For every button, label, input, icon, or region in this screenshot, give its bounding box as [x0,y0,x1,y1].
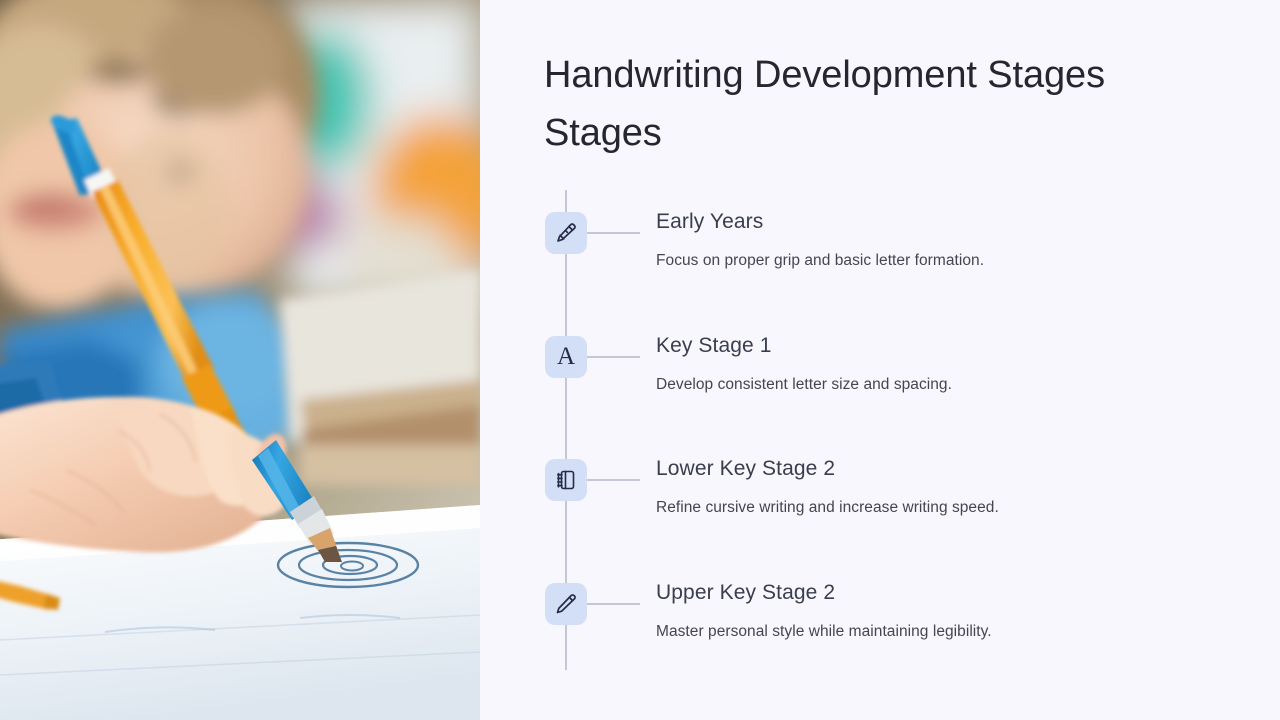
slide-root: Handwriting Development Stages Stages [0,0,1280,720]
timeline-connector-3 [587,603,640,605]
timeline-heading-0: Early Years [656,208,1236,236]
pen-icon [554,592,578,616]
photo-illustration [0,0,480,720]
hero-photo-child-writing [0,0,480,720]
letter-a-icon: A [557,344,575,369]
timeline-item-upper-key-stage-2[interactable]: Upper Key Stage 2 Master personal style … [544,583,1244,683]
timeline-body-1: Key Stage 1 Develop consistent letter si… [656,332,1236,396]
timeline-marker-2[interactable] [545,459,587,501]
spiral-notebook-icon [554,468,578,492]
photo-desk-background [280,270,480,485]
timeline-heading-1: Key Stage 1 [656,332,1236,360]
page-title: Handwriting Development Stages Stages [544,46,1204,162]
timeline-connector-1 [587,356,640,358]
timeline-connector-0 [587,232,640,234]
timeline-body-2: Lower Key Stage 2 Refine cursive writing… [656,455,1236,519]
pencil-edit-icon [554,221,578,245]
timeline-heading-3: Upper Key Stage 2 [656,579,1236,607]
timeline-description-0: Focus on proper grip and basic letter fo… [656,250,1236,272]
content-panel: Handwriting Development Stages Stages [480,0,1280,720]
timeline-body-0: Early Years Focus on proper grip and bas… [656,208,1236,272]
timeline-body-3: Upper Key Stage 2 Master personal style … [656,579,1236,643]
timeline-item-early-years[interactable]: Early Years Focus on proper grip and bas… [544,212,1244,312]
timeline-heading-2: Lower Key Stage 2 [656,455,1236,483]
timeline-connector-2 [587,479,640,481]
timeline-marker-1[interactable]: A [545,336,587,378]
timeline-marker-0[interactable] [545,212,587,254]
timeline-item-lower-key-stage-2[interactable]: Lower Key Stage 2 Refine cursive writing… [544,459,1244,559]
timeline-item-key-stage-1[interactable]: A Key Stage 1 Develop consistent letter … [544,336,1244,436]
timeline-description-1: Develop consistent letter size and spaci… [656,374,1236,396]
timeline-marker-3[interactable] [545,583,587,625]
timeline-description-2: Refine cursive writing and increase writ… [656,497,1236,519]
timeline-description-3: Master personal style while maintaining … [656,621,1236,643]
